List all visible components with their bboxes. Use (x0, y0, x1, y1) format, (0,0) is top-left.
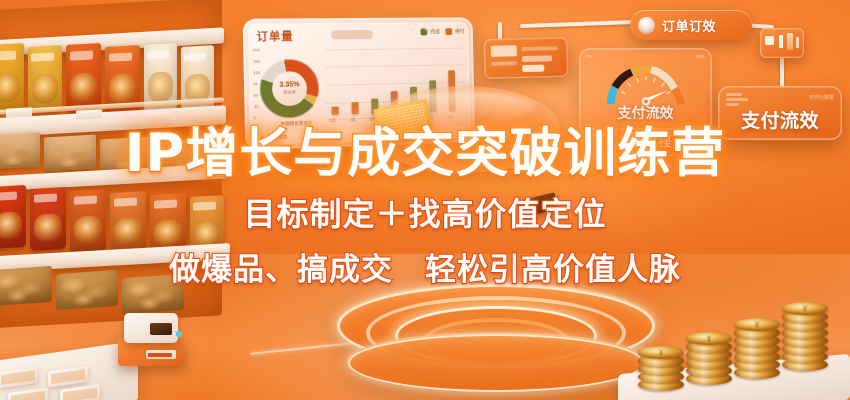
gauge-corner-min: 0% (586, 54, 593, 59)
tag-line (522, 46, 558, 51)
square-icon (765, 36, 774, 45)
y-tick: 60 (254, 92, 259, 97)
price-tag (6, 107, 32, 117)
y-tick: 30 (254, 104, 259, 109)
bar-1 (332, 107, 339, 115)
refresh-icon[interactable] (408, 22, 417, 31)
meta-line (726, 98, 748, 101)
donut-center: 3.35% 转化率 (272, 71, 308, 106)
product-pack (0, 43, 24, 113)
tag-line (491, 61, 517, 66)
subtitle-two: 做爆品、搞成交 轻松引高价值人脉 (0, 244, 850, 289)
bar-icon (787, 33, 793, 50)
bar-icon (779, 35, 783, 48)
platform-box (60, 384, 100, 400)
price-tag (76, 109, 102, 119)
pos-housing (124, 313, 178, 343)
bar-icon (796, 37, 799, 48)
tag-line (522, 55, 552, 62)
poster-text-block: IP增长与成交突破训练营 目标制定＋找高价值定位 做爆品、搞成交 轻松引高价值人… (0, 126, 850, 289)
price-tag (144, 111, 170, 121)
metric-tag-card[interactable] (483, 37, 568, 79)
card-corner-label: 日环比数据 (809, 94, 834, 101)
y-tick: 0 (254, 115, 256, 120)
donut-value: 3.35% (279, 81, 299, 89)
y-tick: 150 (253, 59, 260, 64)
dashboard-title: 订单量 (256, 28, 293, 45)
tag-value (522, 65, 544, 73)
ring-podium-stage (330, 276, 662, 400)
gauge-label: 支付流效 (579, 103, 712, 123)
page-title: IP增长与成交突破训练营 (0, 126, 850, 182)
product-pack (66, 43, 101, 113)
pill-dot-icon (638, 17, 655, 34)
poster-canvas: 订单量 完成 待付 200 150 120 90 60 30 0 (0, 0, 850, 400)
subtitle-one: 目标制定＋找高价值定位 (0, 189, 850, 235)
donut-chart: 3.35% 转化率 本期转化率对比 (259, 59, 320, 119)
expand-icon[interactable] (424, 22, 433, 31)
pos-receipt-slot (146, 350, 176, 359)
coin (638, 346, 684, 359)
order-efficiency-pill[interactable]: 订单订效 (630, 10, 752, 40)
order-pill-label: 订单订效 (662, 16, 716, 35)
tag-thumbnail (491, 45, 517, 57)
pos-screen (150, 323, 172, 335)
bar-2 (352, 102, 359, 114)
platform-box (0, 367, 38, 389)
y-tick: 120 (253, 70, 260, 75)
y-tick: 90 (253, 81, 258, 86)
stage-ring-glow-5 (348, 334, 644, 392)
coin (734, 318, 780, 331)
mini-chart-icon-block[interactable] (760, 28, 804, 58)
coin (686, 332, 732, 345)
pos-terminal (118, 306, 184, 366)
card-meta-lines (726, 93, 748, 106)
platform-box (48, 366, 88, 388)
gauge-corner-max: 85% (696, 54, 705, 59)
dashboard-filter-chip[interactable] (331, 30, 373, 39)
donut-sublabel: 转化率 (283, 89, 295, 95)
y-tick: 200 (253, 47, 260, 52)
pos-indicator (176, 331, 182, 337)
coin (782, 302, 828, 315)
connector-wire (780, 56, 784, 90)
platform-box (8, 387, 48, 400)
meta-line (726, 93, 742, 96)
product-pack (28, 45, 62, 113)
gauge-icon (603, 57, 689, 109)
